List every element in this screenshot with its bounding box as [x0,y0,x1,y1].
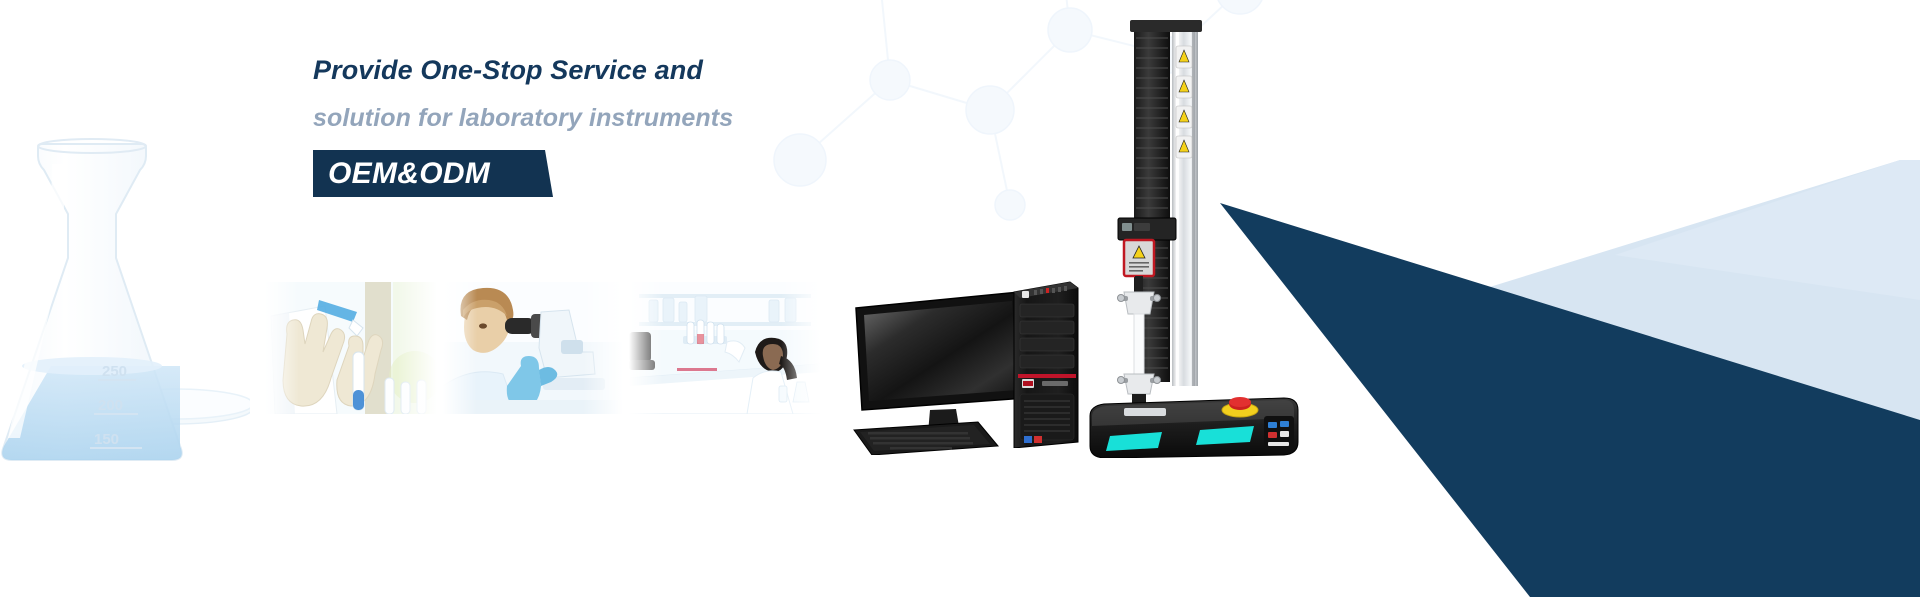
tower-accent-band [1018,374,1076,378]
utm-lower-grip [1124,374,1154,394]
tower-logo [1042,381,1068,386]
list-item [265,282,437,414]
computer-tower-illustration [1008,278,1080,448]
liquid-surface-shape [22,357,162,375]
photo-pipetting [265,282,437,414]
keyboard-illustration [854,422,998,455]
utm-specimen [1134,314,1144,374]
list-item [629,282,821,414]
photo-microscope [443,282,623,414]
utm-upper-grip [1124,292,1154,314]
graduation-label-150: 150 [94,431,119,448]
monitor-screen-shape [864,301,1017,401]
lab-photo-strip [265,282,821,414]
light-blue-triangle-shape [1200,0,1920,597]
list-item [443,282,623,414]
tower-indicator-blue [1024,436,1032,443]
page-title: Provide One-Stop Service and [313,57,953,84]
dark-navy-arrow-shape [1200,0,1920,597]
hero-banner: Provide One-Stop Service and solution fo… [0,0,1920,597]
erlenmeyer-flask-illustration: 250 200 150 [0,108,250,478]
utm-upper-shaft [1135,276,1143,292]
utm-table-plate [1124,408,1166,416]
hero-text-block: Provide One-Stop Service and solution fo… [313,57,953,197]
oem-odm-badge: OEM&ODM [313,150,553,197]
page-subtitle: solution for laboratory instruments [313,106,953,131]
photo-lab-bench [629,282,821,414]
graduation-label-200: 200 [98,397,123,414]
badge-label: OEM&ODM [328,155,490,192]
utm-top-cap [1130,20,1202,32]
tower-indicator-red [1034,436,1042,443]
universal-testing-machine-illustration [1088,18,1303,458]
graduation-label-250: 250 [102,363,127,380]
